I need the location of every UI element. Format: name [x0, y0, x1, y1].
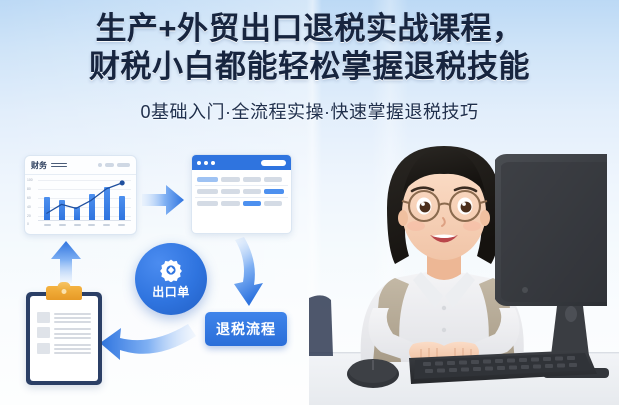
person-eye-highlight-right [462, 202, 466, 206]
list-item [37, 327, 91, 338]
list-item [37, 343, 91, 354]
clipboard-paper [30, 296, 98, 381]
subtitle: 0基础入门·全流程实操·快速掌握退税技巧 [0, 99, 619, 125]
headline-line-1: 生产+外贸出口退税实战课程， [0, 10, 619, 48]
chart-card-controls [98, 163, 130, 167]
list-item-thumb [37, 343, 50, 354]
list-item [37, 312, 91, 323]
list-item-thumb [37, 312, 50, 323]
browser-title-bar [192, 155, 291, 170]
arrow-clipboard-to-chart [51, 241, 81, 283]
chart-title-lines-icon [51, 163, 67, 168]
list-item-thumb [37, 327, 50, 338]
shirt-button [442, 328, 446, 332]
table-row [195, 186, 288, 198]
arrow-chart-to-browser [142, 185, 184, 215]
person-eye-highlight-left [421, 202, 425, 206]
chart-plot-area: 100 80 60 40 20 0 [38, 178, 131, 225]
gear-icon [159, 258, 183, 282]
headline-line-2: 财税小白都能轻松掌握退税技能 [0, 48, 619, 86]
monitor-stand-detail [565, 306, 577, 322]
person-ear-right [480, 210, 490, 226]
browser-table-card[interactable] [191, 154, 292, 234]
table-row [195, 174, 288, 186]
browser-address-bar[interactable] [261, 160, 286, 166]
finance-chart-card[interactable]: 财务 100 80 60 40 20 0 [24, 155, 137, 235]
person-illustration-svg [309, 130, 619, 405]
arrow-process-to-clipboard [100, 324, 196, 360]
computer-mouse [347, 359, 399, 388]
headline-block: 生产+外贸出口退税实战课程， 财税小白都能轻松掌握退税技能 [0, 10, 619, 86]
browser-table-body [192, 170, 291, 213]
person-blush-right [463, 221, 481, 231]
arrow-browser-to-process [234, 237, 263, 306]
person-iris-left [420, 202, 431, 213]
shirt-button [442, 306, 446, 310]
export-order-badge[interactable]: 出口单 [135, 243, 207, 315]
browser-window-dots-icon [197, 161, 215, 165]
clipboard-card[interactable] [26, 292, 102, 385]
clipboard-clip-icon [46, 286, 82, 300]
person-blush-left [407, 221, 425, 231]
export-order-badge-label: 出口单 [152, 283, 190, 300]
monitor-power-led [522, 287, 528, 293]
chart-card-title: 财务 [31, 160, 47, 171]
chart-x-labels [40, 224, 129, 226]
tax-rebate-process-button[interactable]: 退税流程 [205, 312, 287, 346]
banner: 生产+外贸出口退税实战课程， 财税小白都能轻松掌握退税技能 0基础入门·全流程实… [0, 0, 619, 405]
person-iris-right [461, 202, 472, 213]
table-row [195, 198, 288, 209]
infographic: 财务 100 80 60 40 20 0 [0, 140, 320, 405]
person-illustration [309, 130, 619, 405]
person-ear-left [398, 210, 408, 226]
